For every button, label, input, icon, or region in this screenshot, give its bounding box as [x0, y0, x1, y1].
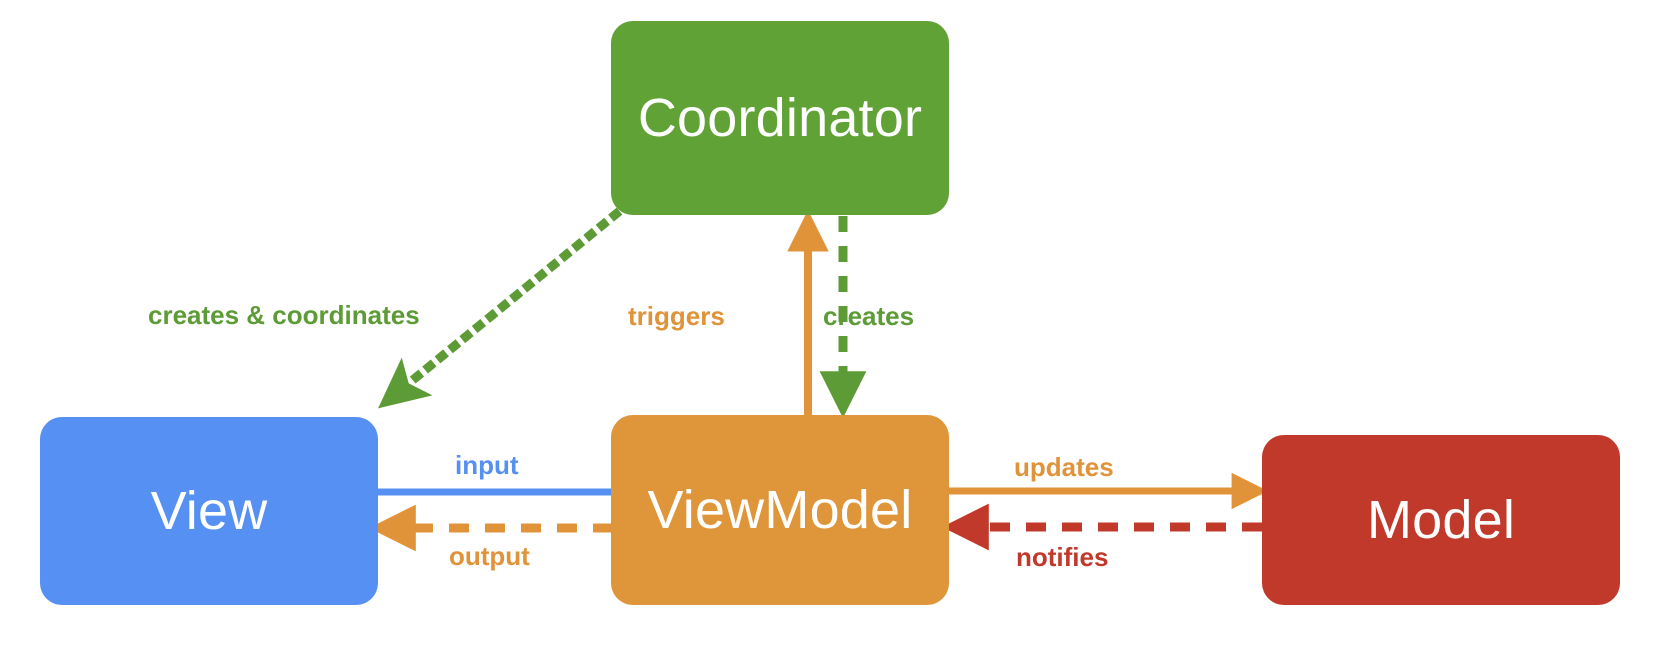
node-viewmodel[interactable]: ViewModel [611, 415, 949, 605]
node-model-label: Model [1367, 493, 1515, 547]
edge-label-notifies: notifies [1016, 544, 1108, 570]
edge-label-creates-coordinates: creates & coordinates [148, 302, 420, 328]
node-model[interactable]: Model [1262, 435, 1620, 605]
node-viewmodel-label: ViewModel [648, 483, 913, 537]
node-coordinator-label: Coordinator [638, 91, 922, 145]
edge-label-updates: updates [1014, 454, 1114, 480]
node-view-label: View [151, 484, 268, 538]
node-view[interactable]: View [40, 417, 378, 605]
edge-label-creates: creates [823, 303, 914, 329]
edge-label-output: output [449, 543, 530, 569]
edge-label-input: input [455, 452, 519, 478]
edge-creates-coordinates-line [392, 214, 616, 397]
node-coordinator[interactable]: Coordinator [611, 21, 949, 215]
diagram-canvas: Coordinator View ViewModel Model creates… [0, 0, 1668, 670]
edge-label-triggers: triggers [628, 303, 725, 329]
